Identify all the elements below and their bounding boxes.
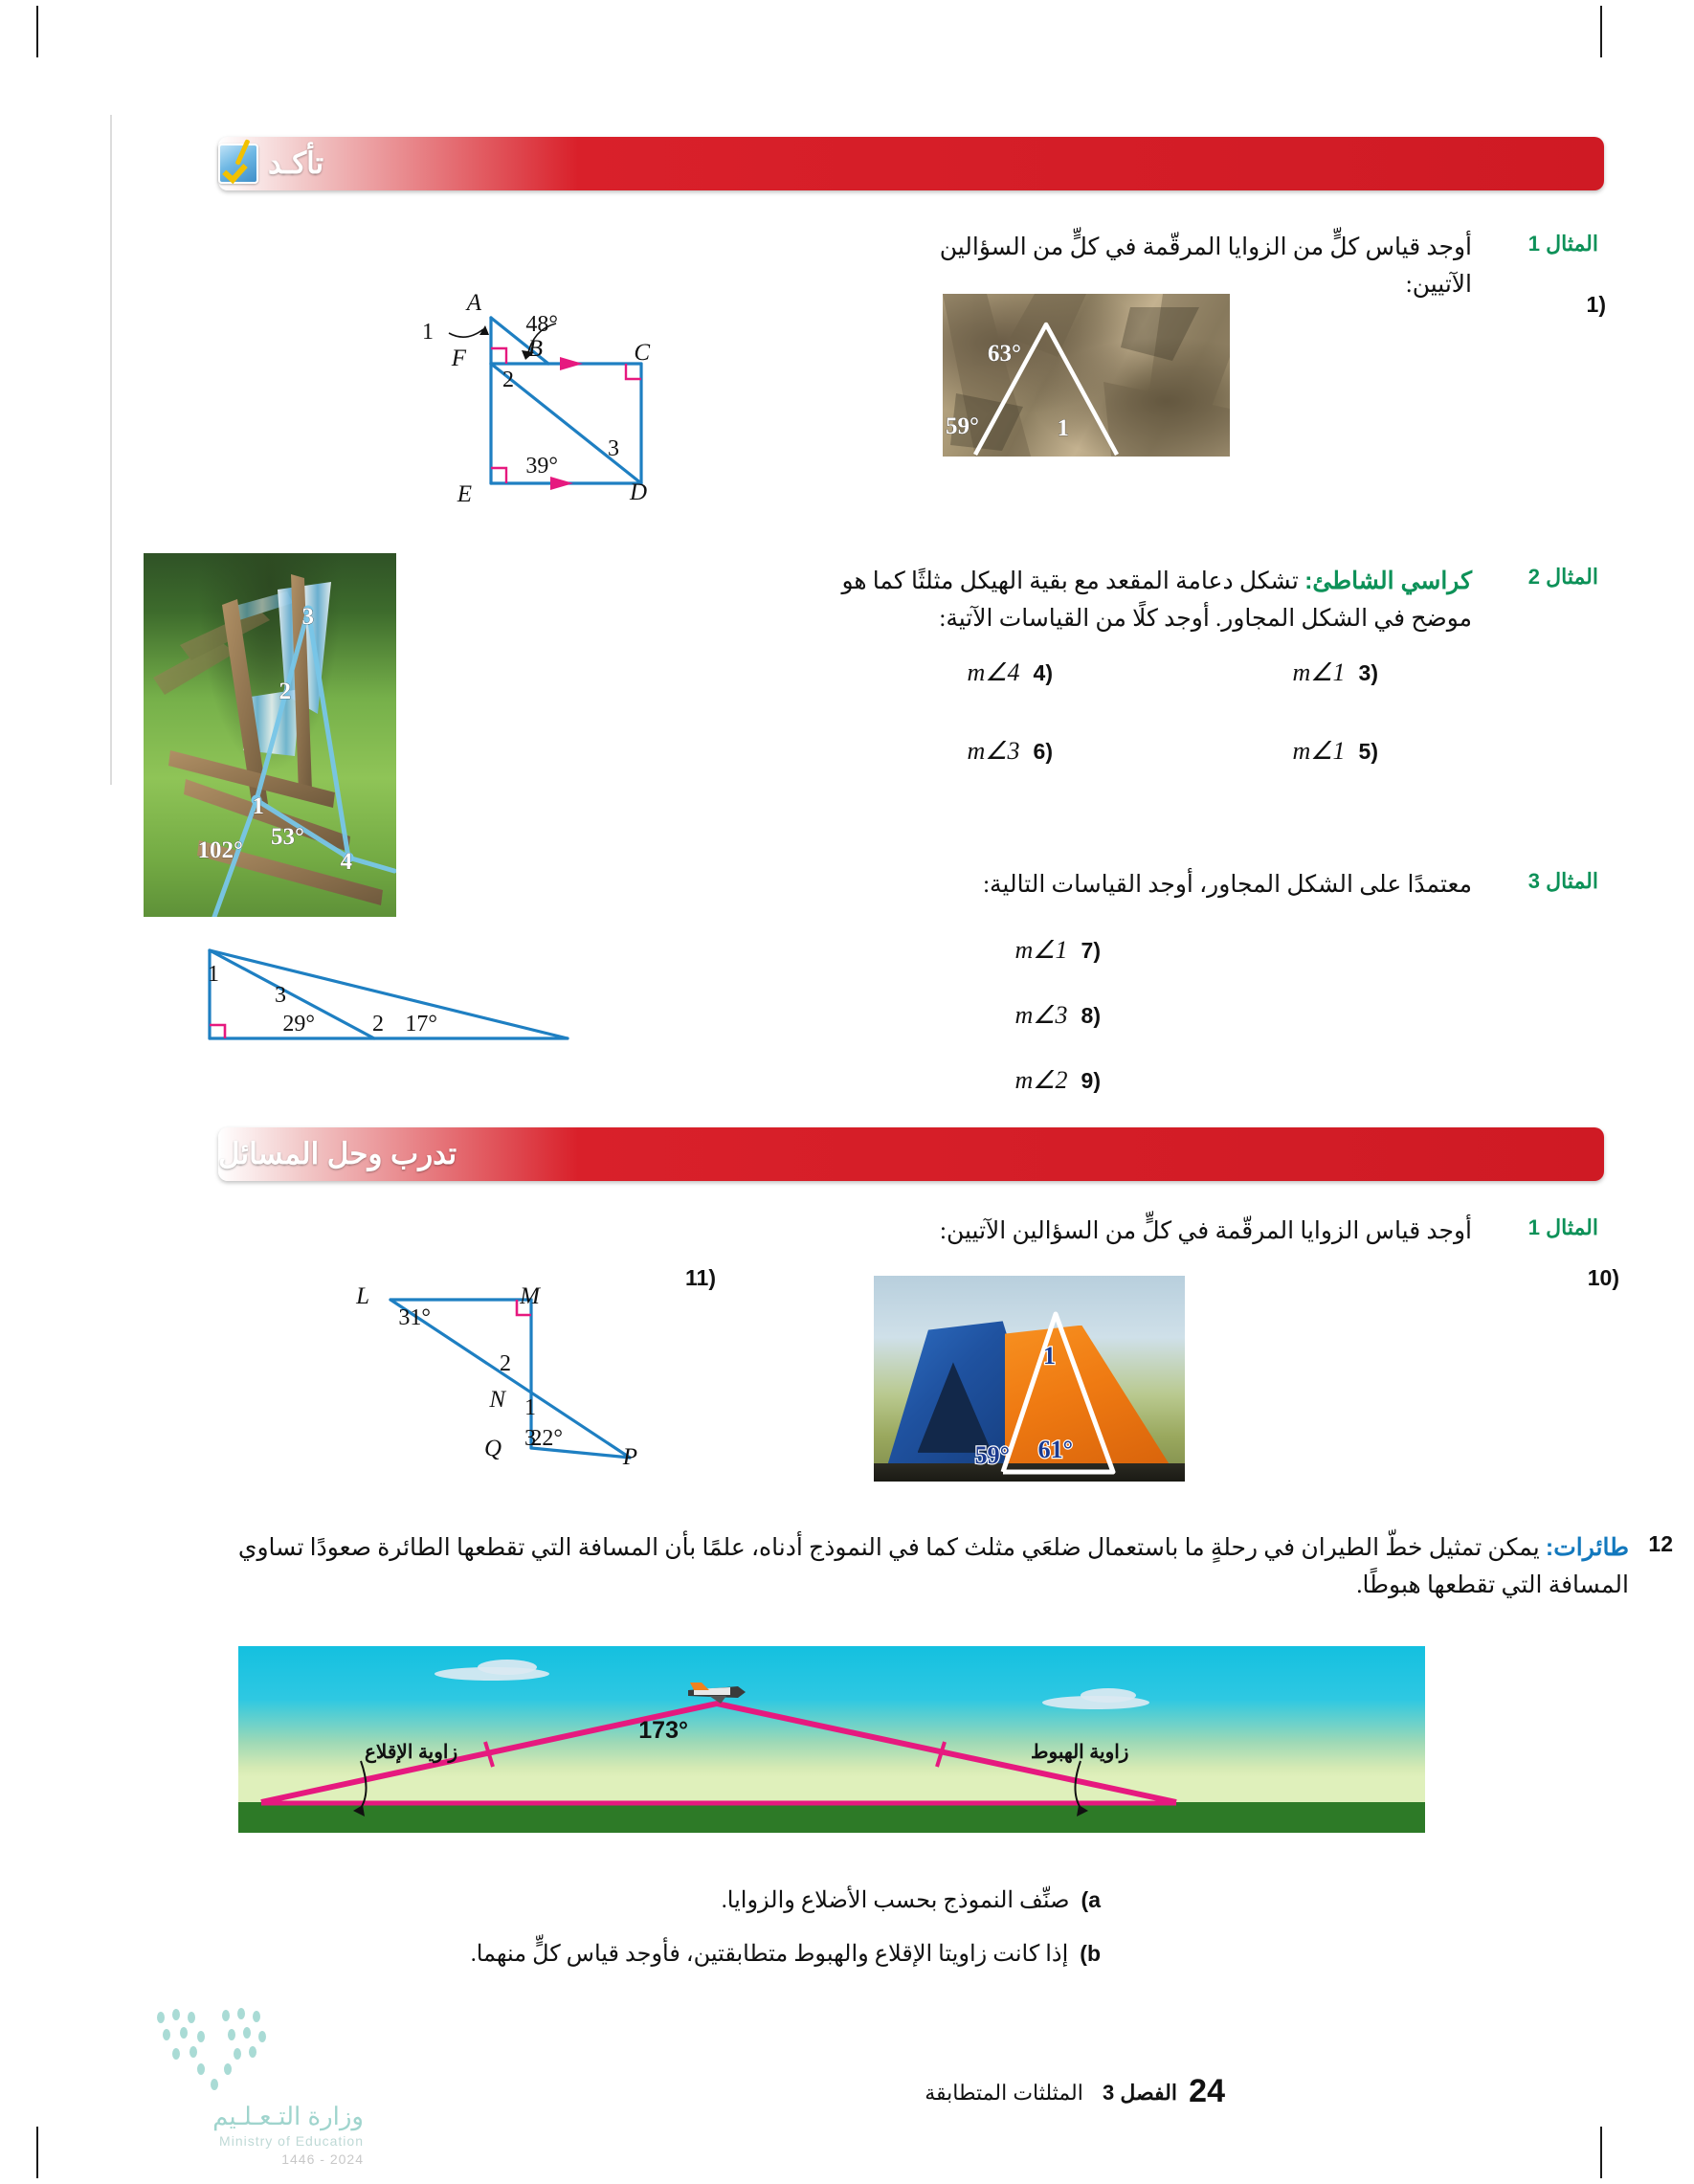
label-angle-39: 39° — [525, 454, 558, 479]
item-4-num: (4 — [1034, 660, 1053, 685]
item-3-num: (3 — [1359, 660, 1378, 685]
vertex-A: A — [465, 290, 482, 316]
crop-mark-top-left — [36, 6, 38, 57]
example-2-topic: كراسي الشاطئ: — [1304, 568, 1472, 594]
subquestion-b: b) إذا كانت زاويتا الإقلاع والهبوط متطاب… — [471, 1937, 1101, 1972]
ministry-palm-dots-icon — [144, 2010, 364, 2098]
chair-label-1: 1 — [253, 793, 265, 819]
chair-label-4: 4 — [341, 849, 353, 875]
item-7-num: (7 — [1081, 938, 1101, 963]
beach-chairs-photo: 3 2 1 4 102° 53° — [144, 553, 396, 917]
margin-rule — [110, 115, 112, 785]
subquestion-a-text: صنِّف النموذج بحسب الأضلاع والزوايا. — [722, 1883, 1070, 1919]
diagram-lmnqp: L M N Q P 31° 2 1 3 22° — [354, 1261, 708, 1482]
footer-chapter: الفصل 3 — [1103, 2081, 1177, 2105]
crop-mark-top-right — [1600, 6, 1602, 57]
ex3-angle-17: 17° — [405, 1012, 437, 1036]
page-number: 24 — [1189, 2073, 1225, 2110]
item-6-text: m∠3 — [967, 737, 1019, 765]
subquestion-a-letter: a) — [1081, 1887, 1101, 1913]
section-banner-check: تأكـد — [218, 137, 1604, 190]
flight-path-diagram: 173° زاوية الإقلاع زاوية الهبوط — [238, 1646, 1425, 1833]
question-number-12: 12 — [1648, 1531, 1673, 1557]
item-6-num: (6 — [1034, 739, 1053, 764]
vertex-F: F — [451, 345, 467, 371]
banner-bar — [218, 137, 1604, 190]
chair-angle-53: 53° — [271, 824, 304, 850]
parallel-arrow-ed — [550, 477, 573, 490]
crop-mark-bottom-right — [1600, 2127, 1602, 2178]
vertex-E: E — [457, 481, 472, 507]
banner-title-check: تأكـد — [268, 146, 323, 181]
stone-lattice-photo: 63° 59° 1 — [943, 294, 1230, 457]
example-1-label: المثال 1 — [1528, 232, 1598, 256]
lmnqp-label-1: 1 — [524, 1395, 536, 1420]
apex-angle-173: 173° — [638, 1717, 688, 1744]
right-angle-e — [491, 468, 506, 483]
question-number-10: (10 — [1588, 1265, 1619, 1291]
textbook-page: تأكـد المثال 1 أوجد قياس كلٍّ من الزوايا… — [0, 0, 1694, 2184]
item-7-text: m∠1 — [1014, 936, 1067, 964]
tent-label-1: 1 — [1043, 1342, 1056, 1370]
item-8-num: (8 — [1081, 1003, 1101, 1028]
lmnqp-label-2: 2 — [500, 1351, 511, 1376]
tent-angle-59: 59° — [975, 1441, 1010, 1469]
item-4: (4 m∠4 — [967, 658, 1053, 687]
stone-angle-left: 59° — [946, 413, 979, 439]
item-4-text: m∠4 — [967, 658, 1019, 686]
chair-label-3: 3 — [302, 604, 315, 630]
checkbox-check-icon — [218, 144, 258, 184]
vertex-M: M — [519, 1283, 541, 1309]
example-3-instruction: معتمدًا على الشكل المجاور، أوجد القياسات… — [936, 867, 1472, 904]
ex3-label-1: 1 — [208, 962, 219, 987]
ministry-name-en: Ministry of Education — [144, 2133, 364, 2149]
chair-label-2: 2 — [279, 679, 292, 704]
problem-12-topic: طائرات: — [1546, 1534, 1629, 1561]
practice-example-1-label: المثال 1 — [1528, 1215, 1598, 1240]
right-angle-mark — [210, 1025, 225, 1038]
example-2-label: المثال 2 — [1528, 565, 1598, 590]
ex3-label-2: 2 — [372, 1012, 384, 1036]
item-6: (6 m∠3 — [967, 737, 1053, 766]
ministry-year: 2024 - 1446 — [144, 2151, 364, 2167]
vertex-D: D — [629, 479, 647, 505]
subquestion-b-text: إذا كانت زاويتا الإقلاع والهبوط متطابقتي… — [471, 1937, 1069, 1972]
section-banner-practice: تدرب وحل المسائل — [218, 1127, 1604, 1181]
lmnqp-angle-22: 22° — [530, 1426, 563, 1451]
ministry-logo: وزارة التـعـلـيم Ministry of Education 2… — [144, 2010, 364, 2153]
camping-tent-photo: 1 59° 61° — [874, 1276, 1185, 1482]
right-angle-f — [491, 348, 506, 364]
ex3-angle-29: 29° — [282, 1012, 315, 1036]
lmnqp-angle-31: 31° — [398, 1305, 431, 1330]
item-3-text: m∠1 — [1292, 658, 1345, 686]
vertex-N: N — [488, 1387, 506, 1413]
example-3-label: المثال 3 — [1528, 869, 1598, 894]
item-7: (7 m∠1 — [1014, 936, 1101, 965]
question-number-1: (1 — [1587, 292, 1606, 318]
subquestion-a: a) صنِّف النموذج بحسب الأضلاع والزوايا. — [722, 1883, 1101, 1919]
footer-chapter-line: الفصل 3 المثلثات المتطابقة — [925, 2081, 1177, 2106]
item-5: (5 m∠1 — [1292, 737, 1378, 766]
vertex-B: B — [528, 336, 543, 362]
label-landing-angle: زاوية الهبوط — [1031, 1740, 1128, 1764]
chair-angle-102: 102° — [198, 837, 244, 863]
vertex-C: C — [634, 340, 650, 366]
problem-12-text: طائرات: يمكن تمثيل خطّ الطيران في رحلةٍ … — [212, 1529, 1629, 1605]
label-angle-3: 3 — [608, 436, 619, 461]
practice-example-1-instruction: أوجد قياس الزوايا المرقّمة في كلٍّ من ال… — [879, 1214, 1472, 1251]
problem-12-body: يمكن تمثيل خطّ الطيران في رحلةٍ ما باستع… — [238, 1535, 1629, 1598]
airplane-icon — [688, 1683, 746, 1704]
ex3-label-3: 3 — [275, 983, 286, 1008]
parallel-arrow-fc — [560, 357, 583, 370]
label-takeoff-angle: زاوية الإقلاع — [365, 1740, 457, 1764]
ministry-name-ar: وزارة التـعـلـيم — [144, 2102, 364, 2131]
vertex-L: L — [355, 1283, 369, 1309]
item-3: (3 m∠1 — [1292, 658, 1378, 687]
diagram-example-3: 1 3 2 29° 17° — [196, 943, 579, 1067]
item-5-num: (5 — [1359, 739, 1378, 764]
label-angle-2: 2 — [502, 368, 514, 392]
item-9-text: m∠2 — [1014, 1066, 1067, 1094]
stone-angle-num-1: 1 — [1058, 415, 1070, 441]
label-angle-1: 1 — [422, 320, 434, 345]
example-2-instruction: كراسي الشاطئ: تشكل دعامة المقعد مع بقية … — [812, 563, 1472, 638]
vertex-P: P — [622, 1444, 637, 1470]
stone-angle-top: 63° — [988, 341, 1021, 367]
diagram-abcdef: A B C D E F 1 2 3 48° 39° — [407, 287, 723, 555]
item-8-text: m∠3 — [1014, 1001, 1067, 1029]
item-9: (9 m∠2 — [1014, 1066, 1101, 1095]
subquestion-b-letter: b) — [1080, 1941, 1101, 1967]
crop-mark-bottom-left — [36, 2127, 38, 2178]
item-8: (8 m∠3 — [1014, 1001, 1101, 1030]
item-5-text: m∠1 — [1292, 737, 1345, 765]
vertex-Q: Q — [484, 1436, 502, 1461]
right-angle-c — [626, 364, 641, 379]
tent-angle-61: 61° — [1038, 1436, 1073, 1463]
footer-title: المثلثات المتطابقة — [925, 2081, 1083, 2105]
banner-title-practice: تدرب وحل المسائل — [218, 1137, 457, 1171]
item-9-num: (9 — [1081, 1068, 1101, 1093]
